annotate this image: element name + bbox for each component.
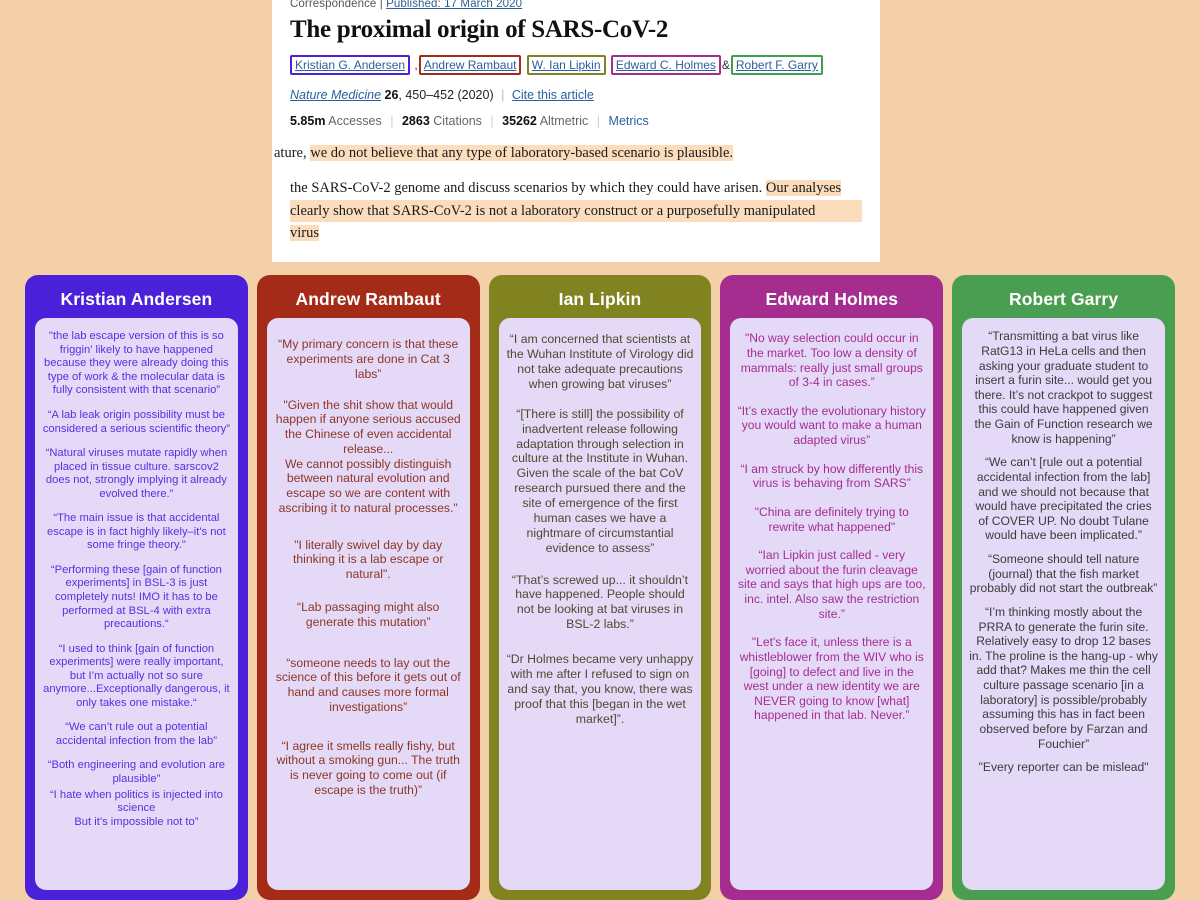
card-andersen[interactable]: Kristian Andersen "the lab escape versio… <box>25 275 248 900</box>
card-title-garry: Robert Garry <box>962 284 1165 318</box>
article-excerpt-line-1: ature, we do not believe that any type o… <box>274 142 862 164</box>
author-separator-1: , <box>410 58 419 72</box>
quote-item: "China are definitely trying to rewrite … <box>737 505 926 534</box>
card-lipkin[interactable]: Ian Lipkin “I am concerned that scientis… <box>489 275 712 900</box>
page-root: Correspondence | Published: 17 March 202… <box>0 0 1200 900</box>
quote-item: “I am struck by how differently this vir… <box>737 462 926 491</box>
quote-box-lipkin: “I am concerned that scientists at the W… <box>499 318 702 890</box>
quote-item: “[There is still] the possibility of ina… <box>506 407 695 556</box>
quote-item: "Given the shit show that would happen i… <box>274 398 463 516</box>
article-breadcrumb: Correspondence | Published: 17 March 202… <box>290 0 862 10</box>
accesses-value: 5.85m <box>290 114 325 128</box>
author-box-holmes[interactable]: Edward C. Holmes <box>611 55 721 75</box>
published-date: Published: 17 March 2020 <box>386 0 522 10</box>
quote-item: "Let's face it, unless there is a whistl… <box>737 635 926 723</box>
quote-item: “That’s screwed up... it shouldn’t have … <box>506 573 695 633</box>
altmetric-label: Altmetric <box>540 114 589 128</box>
card-garry[interactable]: Robert Garry “Transmitting a bat virus l… <box>952 275 1175 900</box>
article-metrics-line: 5.85m Accesses | 2863 Citations | 35262 … <box>290 114 862 128</box>
excerpt-plain-prefix: ature, <box>274 145 307 161</box>
author-list: Kristian G. Andersen , Andrew Rambaut W.… <box>290 54 862 76</box>
quote-item: “I am concerned that scientists at the W… <box>506 332 695 392</box>
journal-name-link[interactable]: Nature Medicine <box>290 88 381 102</box>
card-title-rambaut: Andrew Rambaut <box>267 284 470 318</box>
quote-item: “Ian Lipkin just called - very worried a… <box>737 548 926 621</box>
card-holmes[interactable]: Edward Holmes "No way selection could oc… <box>720 275 943 900</box>
quote-item: “Natural viruses mutate rapidly when pla… <box>42 447 231 501</box>
excerpt-p2-plain: the SARS-CoV-2 genome and discuss scenar… <box>290 180 762 196</box>
metrics-link[interactable]: Metrics <box>609 114 649 128</box>
quote-item: “We can’t rule out a potential accidenta… <box>42 721 231 748</box>
journal-pages: , 450–452 (2020) <box>398 88 493 102</box>
quote-item: “I’m thinking mostly about the PRRA to g… <box>969 605 1158 751</box>
excerpt-highlight-3: clearly show that SARS-CoV-2 is not a la… <box>290 200 862 222</box>
quote-item: “A lab leak origin possibility must be c… <box>42 409 231 436</box>
metrics-divider-2: | <box>485 114 498 128</box>
excerpt-highlight-2: Our analyses <box>766 180 841 196</box>
quote-item: “Performing these [gain of function expe… <box>42 564 231 632</box>
card-title-andersen: Kristian Andersen <box>35 284 238 318</box>
quote-item: “We can’t [rule out a potential accident… <box>969 455 1158 543</box>
quote-box-andersen: "the lab escape version of this is so fr… <box>35 318 238 890</box>
author-cards-row: Kristian Andersen "the lab escape versio… <box>0 275 1200 900</box>
author-box-andersen[interactable]: Kristian G. Andersen <box>290 55 410 75</box>
breadcrumb-separator: | <box>380 0 383 10</box>
quote-item: "I literally swivel day by day thinking … <box>274 538 463 582</box>
card-rambaut[interactable]: Andrew Rambaut “My primary concern is th… <box>257 275 480 900</box>
article-excerpt-paragraph-2: the SARS-CoV-2 genome and discuss scenar… <box>290 177 862 244</box>
excerpt-p2-line-1: the SARS-CoV-2 genome and discuss scenar… <box>290 177 862 199</box>
quote-item: “The main issue is that accidental escap… <box>42 512 231 553</box>
quote-item: “Someone should tell nature (journal) th… <box>969 552 1158 596</box>
article-title: The proximal origin of SARS-CoV-2 <box>290 16 862 44</box>
quote-item: “Dr Holmes became very unhappy with me a… <box>506 652 695 726</box>
article-screenshot: Correspondence | Published: 17 March 202… <box>272 0 880 262</box>
quote-box-rambaut: “My primary concern is that these experi… <box>267 318 470 890</box>
quote-item: "Every reporter can be mislead" <box>969 760 1158 775</box>
quote-item: “It’s exactly the evolutionary history y… <box>737 404 926 448</box>
excerpt-highlight-4: virus <box>290 225 319 241</box>
quote-item: "the lab escape version of this is so fr… <box>42 330 231 398</box>
author-box-garry[interactable]: Robert F. Garry <box>731 55 823 75</box>
journal-divider: | <box>497 88 508 102</box>
author-box-rambaut[interactable]: Andrew Rambaut <box>419 55 522 75</box>
card-title-lipkin: Ian Lipkin <box>499 284 702 318</box>
journal-volume: 26 <box>385 88 399 102</box>
quote-item: “Both engineering and evolution are plau… <box>42 759 231 786</box>
accesses-label: Accesses <box>328 114 382 128</box>
quote-item: “Lab passaging might also generate this … <box>274 600 463 630</box>
quote-box-garry: “Transmitting a bat virus like RatG13 in… <box>962 318 1165 890</box>
journal-citation-line: Nature Medicine 26, 450–452 (2020) | Cit… <box>290 88 862 102</box>
quote-item: “someone needs to lay out the science of… <box>274 656 463 715</box>
excerpt-p2-line-3: virus <box>290 222 862 244</box>
altmetric-value: 35262 <box>502 114 537 128</box>
quote-item: “Transmitting a bat virus like RatG13 in… <box>969 329 1158 446</box>
metrics-divider-1: | <box>385 114 398 128</box>
quote-item: “I agree it smells really fishy, but wit… <box>274 739 463 798</box>
quote-box-holmes: "No way selection could occur in the mar… <box>730 318 933 890</box>
author-box-lipkin[interactable]: W. Ian Lipkin <box>527 55 606 75</box>
card-title-holmes: Edward Holmes <box>730 284 933 318</box>
quote-item: “My primary concern is that these experi… <box>274 337 463 381</box>
quote-item: “I hate when politics is injected into s… <box>42 789 231 830</box>
metrics-divider-3: | <box>592 114 605 128</box>
excerpt-highlight-1: we do not believe that any type of labor… <box>310 145 733 161</box>
cite-article-link[interactable]: Cite this article <box>512 88 594 102</box>
citations-value: 2863 <box>402 114 430 128</box>
citations-label: Citations <box>433 114 482 128</box>
quote-item: "No way selection could occur in the mar… <box>737 331 926 390</box>
article-body-excerpt: ature, we do not believe that any type o… <box>290 142 862 245</box>
author-separator-2 <box>521 58 526 72</box>
breadcrumb-type: Correspondence <box>290 0 376 10</box>
author-separator-4: & <box>721 58 731 72</box>
quote-item: “I used to think [gain of function exper… <box>42 643 231 711</box>
